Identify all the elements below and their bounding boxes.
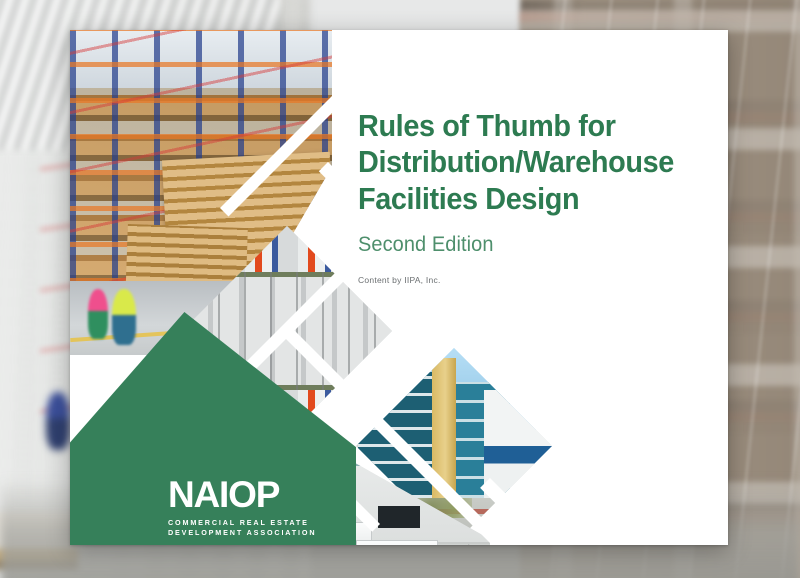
cover-title-block: Rules of Thumb for Distribution/Warehous… <box>358 108 708 285</box>
naiop-tagline: COMMERCIAL REAL ESTATE DEVELOPMENT ASSOC… <box>168 518 316 539</box>
naiop-tagline-line-1: COMMERCIAL REAL ESTATE <box>168 518 316 528</box>
dock-door <box>378 506 420 528</box>
naiop-logo: NAIOP COMMERCIAL REAL ESTATE DEVELOPMENT… <box>168 476 316 539</box>
title-line-2: Distribution/Warehouse <box>358 144 684 180</box>
page-title: Rules of Thumb for Distribution/Warehous… <box>358 108 684 217</box>
naiop-wordmark: NAIOP <box>168 476 316 513</box>
naiop-tagline-line-2: DEVELOPMENT ASSOCIATION <box>168 528 316 538</box>
warehouse-worker <box>112 289 136 345</box>
content-credit: Content by IIPA, Inc. <box>358 275 708 285</box>
background-worker-figure <box>46 392 70 450</box>
book-cover: Rules of Thumb for Distribution/Warehous… <box>70 30 728 545</box>
warehouse-worker <box>88 289 108 339</box>
edition-subtitle: Second Edition <box>358 233 691 257</box>
title-line-1: Rules of Thumb for <box>358 108 684 144</box>
title-line-3: Facilities Design <box>358 181 684 217</box>
truck-body <box>356 540 438 545</box>
